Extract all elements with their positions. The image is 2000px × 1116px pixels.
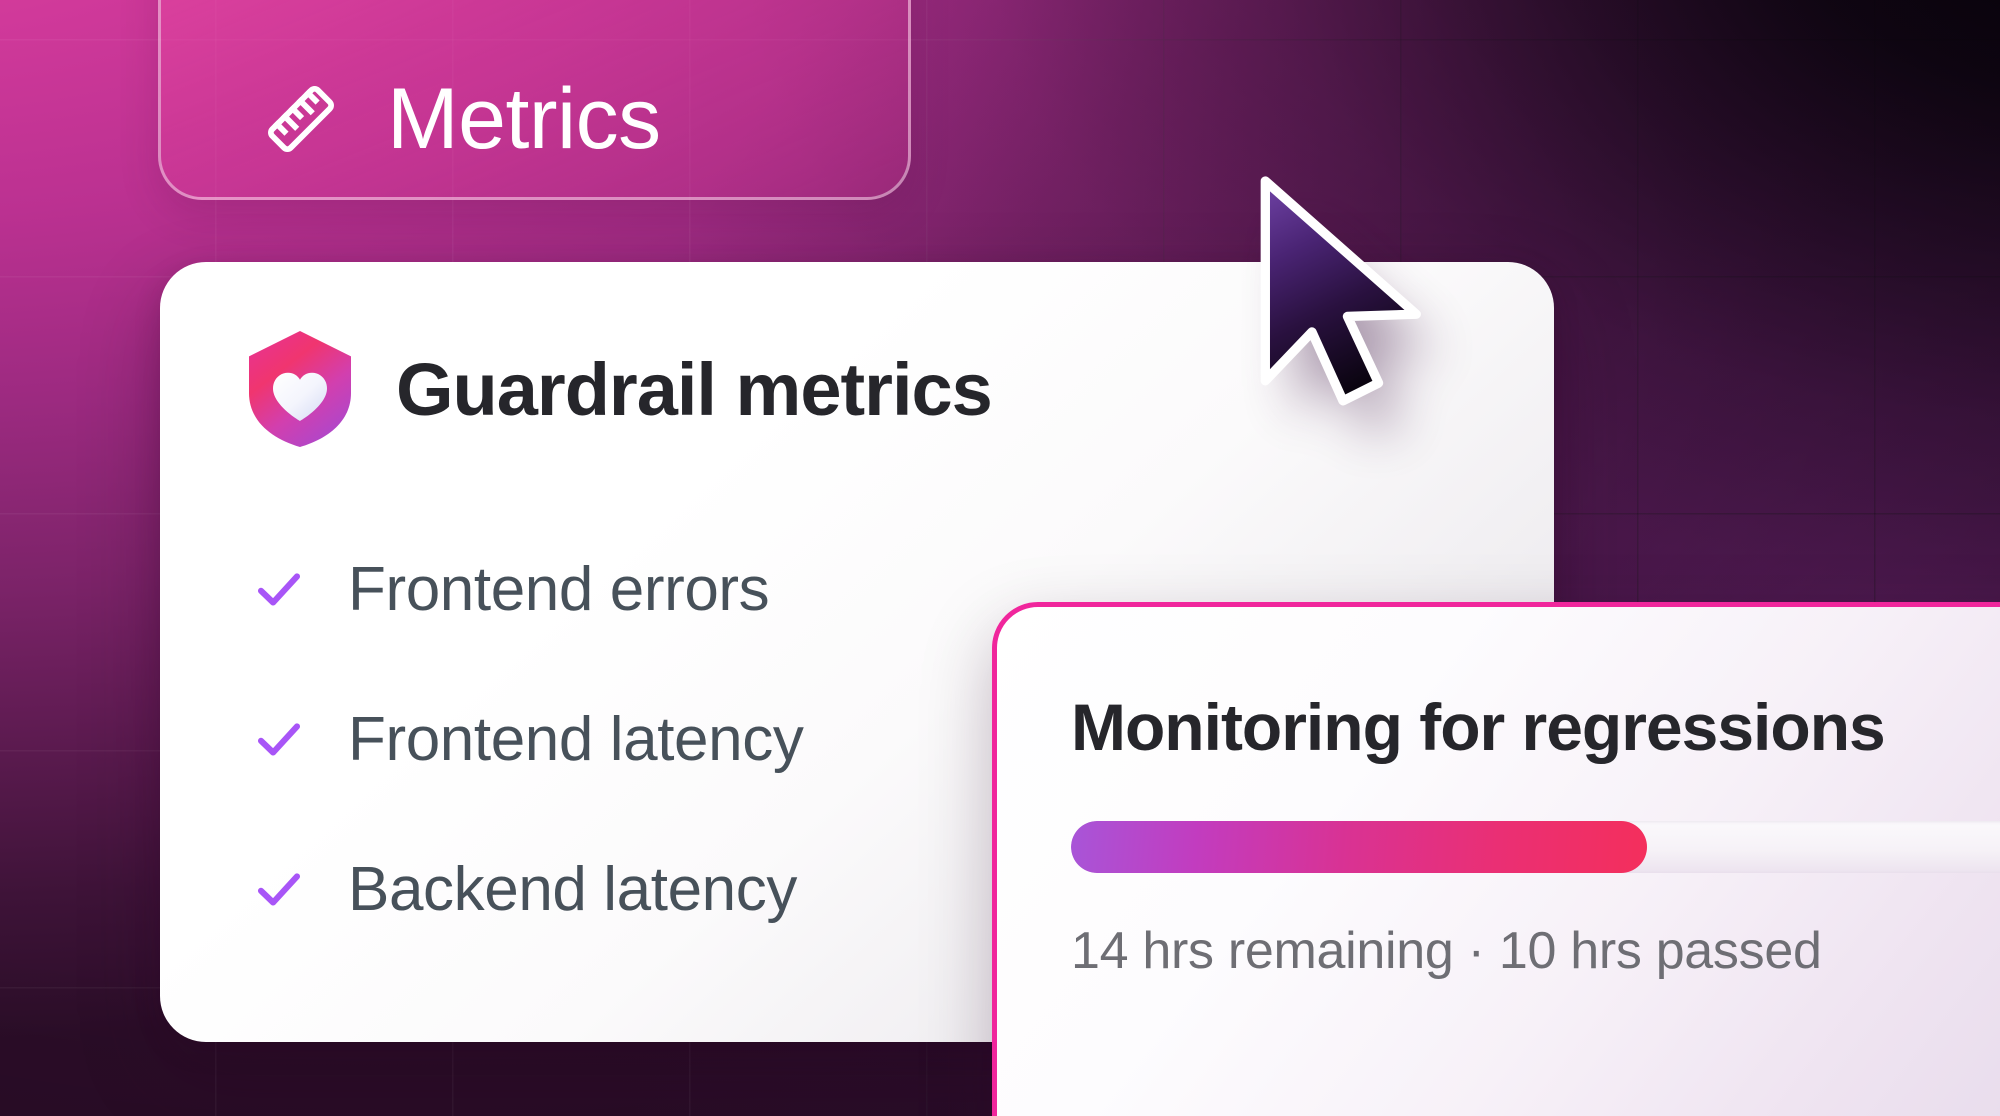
metrics-pill-label: Metrics [387,76,661,162]
page-title: Guardrail metrics [396,347,992,432]
ruler-icon [257,75,345,163]
check-icon [252,562,306,616]
check-icon [252,862,306,916]
progress-bar-fill [1071,821,1647,873]
list-item-label: Backend latency [348,854,797,925]
metrics-pill-content: Metrics [161,75,661,163]
list-item-label: Frontend errors [348,554,769,625]
monitoring-card-title: Monitoring for regressions [1071,689,2000,765]
monitoring-status-text: 14 hrs remaining · 10 hrs passed [1071,921,2000,981]
mouse-pointer-icon [1252,176,1474,408]
metrics-pill[interactable]: Metrics [158,0,911,200]
check-icon [252,712,306,766]
screenshot-stage: Metrics [0,0,2000,1116]
shield-heart-icon [246,330,354,448]
progress-bar-track [1071,821,2000,873]
list-item-label: Frontend latency [348,704,803,775]
monitoring-card: Monitoring for regressions 14 hrs remain… [992,602,2000,1116]
